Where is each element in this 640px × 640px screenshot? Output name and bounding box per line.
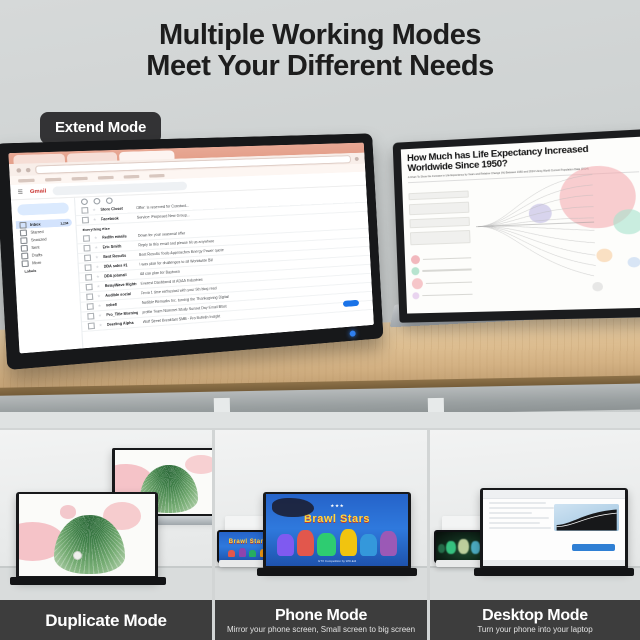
le-legend-column: [408, 190, 472, 302]
monitor-bezel: ☰ Gmail Inbox 1,234: [0, 133, 383, 370]
desktop-photo: [430, 430, 640, 600]
row-checkbox[interactable]: [83, 245, 90, 251]
monitor-stand: [474, 568, 634, 576]
gmail-logo: Gmail: [30, 188, 47, 195]
portable-monitor-device: ☰ Gmail Inbox 1,234: [23, 133, 384, 357]
browser-toolbar[interactable]: [483, 490, 625, 499]
row-checkbox[interactable]: [86, 284, 93, 290]
cta-button[interactable]: [572, 544, 615, 551]
power-led-indicator: [350, 330, 356, 337]
row-checkbox[interactable]: [87, 313, 94, 319]
search-input[interactable]: [53, 181, 188, 195]
sidebar-label: Inbox: [30, 222, 41, 227]
chevron-down-icon: [21, 260, 28, 267]
hero-section: Multiple Working Modes Meet Your Differe…: [0, 0, 640, 428]
portable-monitor-device: ★ ★ ★ Brawl Stars GTX Competition by WD-…: [263, 492, 411, 570]
star-icon[interactable]: ★: [99, 323, 103, 328]
lotus-infographic: [19, 494, 155, 576]
panel-title: Desktop Mode: [482, 607, 588, 624]
bookmark-item[interactable]: [72, 176, 88, 180]
email-sender: nobell: [106, 301, 138, 307]
panel-caption: Phone Mode Mirror your phone screen, Sma…: [215, 600, 427, 640]
panel-caption: Desktop Mode Turn your phone into your l…: [430, 600, 640, 640]
bookmark-item[interactable]: [45, 177, 61, 181]
refresh-icon[interactable]: [93, 198, 100, 205]
inbox-icon: [19, 221, 26, 228]
email-list: ★ Store Closet Offer: Is reserved for Co…: [74, 186, 374, 350]
bookmark-item[interactable]: [124, 174, 140, 178]
email-sender: Redfin emails: [102, 234, 134, 240]
sidebar-label: Snoozed: [31, 237, 47, 242]
row-checkbox[interactable]: [85, 274, 92, 280]
clock-icon: [20, 237, 27, 244]
profile-icon[interactable]: [355, 156, 359, 160]
star-icon[interactable]: ★: [98, 313, 102, 318]
star-icon[interactable]: ★: [93, 217, 97, 221]
email-sender: Eric Smith: [102, 243, 134, 249]
taskbar[interactable]: [483, 560, 625, 566]
primary-action-button[interactable]: [343, 300, 359, 307]
row-checkbox[interactable]: [82, 217, 89, 223]
monitor-stand: [10, 577, 166, 585]
row-checkbox[interactable]: [84, 255, 91, 261]
row-checkbox[interactable]: [88, 323, 95, 329]
star-icon[interactable]: ★: [98, 304, 102, 309]
back-icon[interactable]: [16, 168, 21, 173]
laptop-lid: How Much has Life Expectancy Increased W…: [393, 129, 640, 323]
email-sender: Facebook: [101, 216, 133, 222]
laptop-screen: How Much has Life Expectancy Increased W…: [401, 137, 640, 314]
star-icon[interactable]: ★: [94, 236, 98, 240]
star-icon[interactable]: ★: [96, 284, 100, 289]
star-icon[interactable]: ★: [92, 208, 96, 212]
star-icon[interactable]: ★: [97, 294, 101, 299]
reload-icon[interactable]: [26, 167, 31, 172]
hero-image: [554, 504, 619, 531]
panel-title: Duplicate Mode: [45, 612, 166, 629]
panel-duplicate-mode: Duplicate Mode: [0, 430, 212, 640]
email-sender: Audible social: [105, 292, 137, 298]
email-sender: DDA sales #1: [103, 263, 135, 269]
draft-icon: [21, 252, 28, 259]
gmail-window: ☰ Gmail Inbox 1,234: [8, 143, 374, 354]
row-checkbox[interactable]: [85, 264, 92, 270]
sidebar-label: Starred: [30, 229, 43, 234]
email-sender: Best Results: [103, 253, 135, 259]
email-sender: Pro_Title Morning: [106, 311, 138, 318]
email-sender: Store Closet: [100, 206, 132, 212]
star-icon[interactable]: ★: [95, 265, 99, 270]
life-expectancy-page: How Much has Life Expectancy Increased W…: [401, 137, 640, 314]
portable-monitor-device: [480, 488, 628, 570]
compose-button[interactable]: [17, 202, 69, 215]
brawl-stars-screen: ★ ★ ★ Brawl Stars GTX Competition by WD-…: [266, 494, 408, 566]
send-icon: [21, 244, 28, 251]
star-icon[interactable]: ★: [96, 275, 100, 280]
inbox-count: 1,234: [60, 220, 68, 225]
email-sender: Deerling Alpha: [107, 320, 139, 327]
row-checkbox[interactable]: [83, 235, 90, 241]
star-icon[interactable]: ★: [94, 245, 98, 250]
phone-photo: Brawl Stars ★ ★ ★ Brawl St: [215, 430, 427, 600]
sidebar-label: Sent: [31, 245, 39, 250]
star-icon[interactable]: ★: [95, 255, 99, 260]
bookmark-item[interactable]: [149, 173, 165, 177]
sidebar-label: More: [32, 260, 41, 265]
row-checkbox[interactable]: [87, 303, 94, 309]
panel-subtitle: Turn your phone into your laptop: [473, 625, 596, 634]
laptop-device: How Much has Life Expectancy Increased W…: [393, 133, 640, 322]
row-checkbox[interactable]: [81, 207, 88, 213]
monitor-screen: ☰ Gmail Inbox 1,234: [8, 143, 374, 354]
portable-monitor-device: [16, 492, 158, 580]
duplicate-photo: [0, 430, 212, 600]
page-title: Multiple Working Modes Meet Your Differe…: [0, 20, 640, 82]
overflow-icon[interactable]: [106, 197, 113, 204]
hamburger-icon[interactable]: ☰: [17, 188, 23, 195]
floor: [0, 412, 640, 428]
monitor-stand: [257, 568, 417, 576]
bookmark-item[interactable]: [18, 178, 35, 182]
bookmark-item[interactable]: [98, 175, 114, 179]
le-bubble-chart: [468, 157, 640, 312]
row-checkbox[interactable]: [86, 294, 93, 300]
panel-caption: Duplicate Mode: [0, 600, 212, 640]
sidebar-label: Drafts: [32, 252, 43, 257]
panel-phone-mode: Brawl Stars ★ ★ ★ Brawl St: [215, 430, 427, 640]
panel-desktop-mode: Desktop Mode Turn your phone into your l…: [430, 430, 640, 640]
panel-subtitle: Mirror your phone screen, Small screen t…: [223, 625, 419, 634]
select-all-icon[interactable]: [81, 198, 88, 205]
product-marketing-image: Multiple Working Modes Meet Your Differe…: [0, 0, 640, 640]
le-flow-lines: [468, 157, 640, 312]
gmail-sidebar: Inbox 1,234 Starred Snoozed: [11, 198, 82, 354]
email-sender: DDA jobmail: [104, 272, 136, 278]
desktop-webpage: [483, 490, 625, 566]
game-caption: GTX Competition by WD-Edi: [266, 559, 408, 563]
panel-title: Phone Mode: [275, 607, 367, 624]
star-icon: [20, 229, 27, 236]
mode-panels: Duplicate Mode Brawl Stars: [0, 430, 640, 640]
email-sender: RelayWave Rights: [105, 282, 137, 288]
